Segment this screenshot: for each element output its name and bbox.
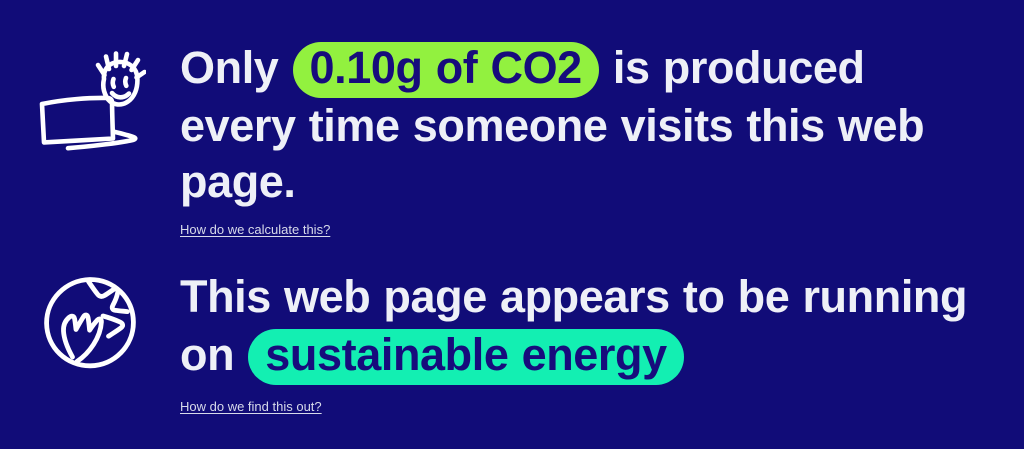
energy-statement-block: This web page appears to be running on s… (0, 268, 1024, 416)
website-carbon-badge: Only 0.10g of CO2 is produced every time… (0, 0, 1024, 449)
energy-help-link[interactable]: How do we find this out? (180, 399, 322, 415)
laptop-person-icon (34, 48, 146, 152)
energy-value-highlight: sustainable energy (248, 329, 683, 385)
co2-headline-lead: Only (180, 42, 278, 93)
co2-help-link[interactable]: How do we calculate this? (180, 222, 330, 238)
co2-value-highlight: 0.10g of CO2 (293, 42, 599, 98)
energy-headline: This web page appears to be running on s… (180, 268, 974, 385)
co2-text-column: Only 0.10g of CO2 is produced every time… (180, 40, 1024, 239)
co2-statement-block: Only 0.10g of CO2 is produced every time… (0, 40, 1024, 239)
energy-text-column: This web page appears to be running on s… (180, 268, 1024, 416)
co2-headline: Only 0.10g of CO2 is produced every time… (180, 40, 974, 210)
co2-icon-column (0, 40, 180, 152)
globe-icon (41, 274, 139, 372)
energy-icon-column (0, 268, 180, 372)
